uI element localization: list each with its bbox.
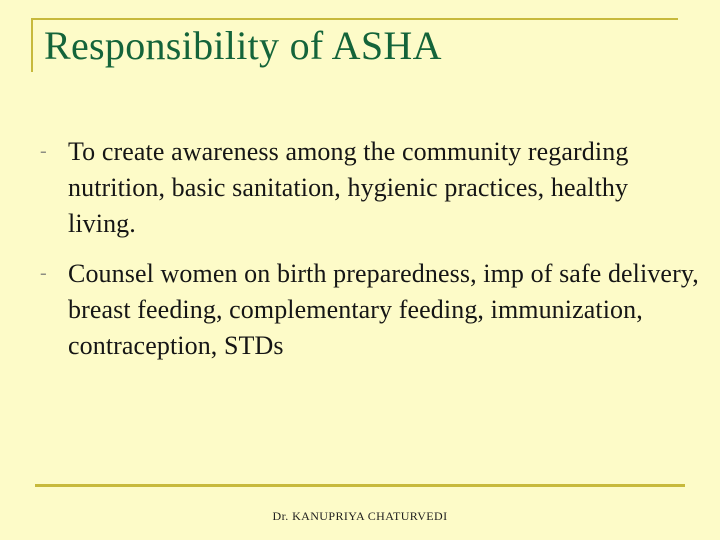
dash-bullet-icon: - xyxy=(40,134,68,154)
slide-canvas: Responsibility of ASHA - To create aware… xyxy=(0,0,720,540)
footer-divider-rule xyxy=(35,484,685,487)
dash-bullet-icon: - xyxy=(40,256,68,276)
title-left-accent-rule xyxy=(31,18,33,72)
list-item-text: Counsel women on birth preparedness, imp… xyxy=(68,256,700,364)
list-item-text: To create awareness among the community … xyxy=(68,134,700,242)
page-title: Responsibility of ASHA xyxy=(44,22,664,70)
list-item: - To create awareness among the communit… xyxy=(40,134,700,242)
title-top-rule xyxy=(31,18,678,20)
bullet-list: - To create awareness among the communit… xyxy=(40,134,700,378)
footer-author: Dr. KANUPRIYA CHATURVEDI xyxy=(0,508,720,524)
list-item: - Counsel women on birth preparedness, i… xyxy=(40,256,700,364)
